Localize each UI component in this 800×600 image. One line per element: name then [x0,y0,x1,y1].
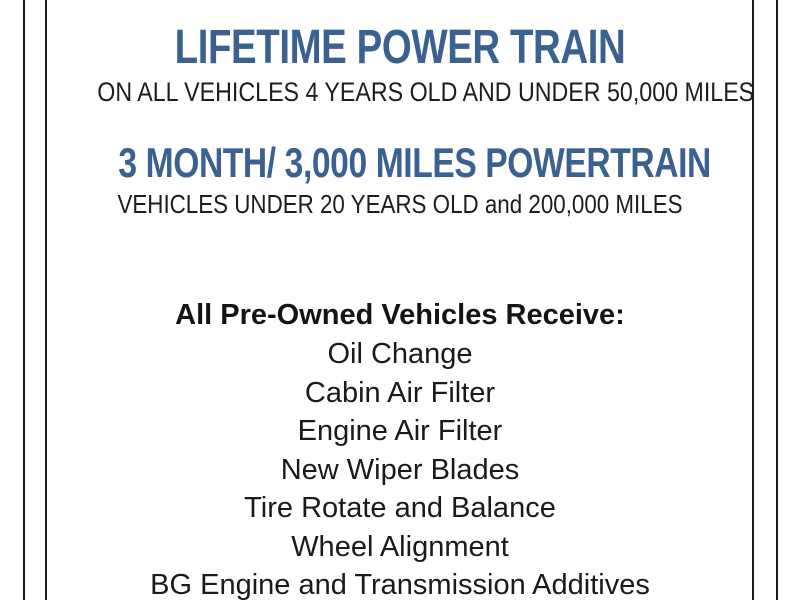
service-item: Oil Change [48,335,752,374]
service-item: Engine Air Filter [48,412,752,451]
service-item: Cabin Air Filter [48,374,752,413]
frame-rule-left-inner [45,0,47,600]
service-item: Wheel Alignment [48,528,752,567]
flyer-content: LIFETIME POWER TRAIN ON ALL VEHICLES 4 Y… [48,0,752,600]
offer-subline-lifetime-power-train: ON ALL VEHICLES 4 YEARS OLD AND UNDER 50… [97,79,702,106]
offer-subline-three-month-powertrain: VEHICLES UNDER 20 YEARS OLD and 200,000 … [97,191,702,217]
services-title: All Pre-Owned Vehicles Receive: [48,296,752,335]
offer-headline-lifetime-power-train: LIFETIME POWER TRAIN [118,24,681,72]
service-item: Tire Rotate and Balance [48,489,752,528]
offer-headline-three-month-powertrain: 3 MONTH/ 3,000 MILES POWERTRAIN [118,142,681,184]
frame-rule-left-outer [23,0,25,600]
services-section: All Pre-Owned Vehicles Receive: Oil Chan… [48,296,752,600]
flyer-page: LIFETIME POWER TRAIN ON ALL VEHICLES 4 Y… [0,0,800,600]
service-item: New Wiper Blades [48,451,752,490]
frame-rule-right-outer [776,0,778,600]
service-item: BG Engine and Transmission Additives [48,566,752,600]
